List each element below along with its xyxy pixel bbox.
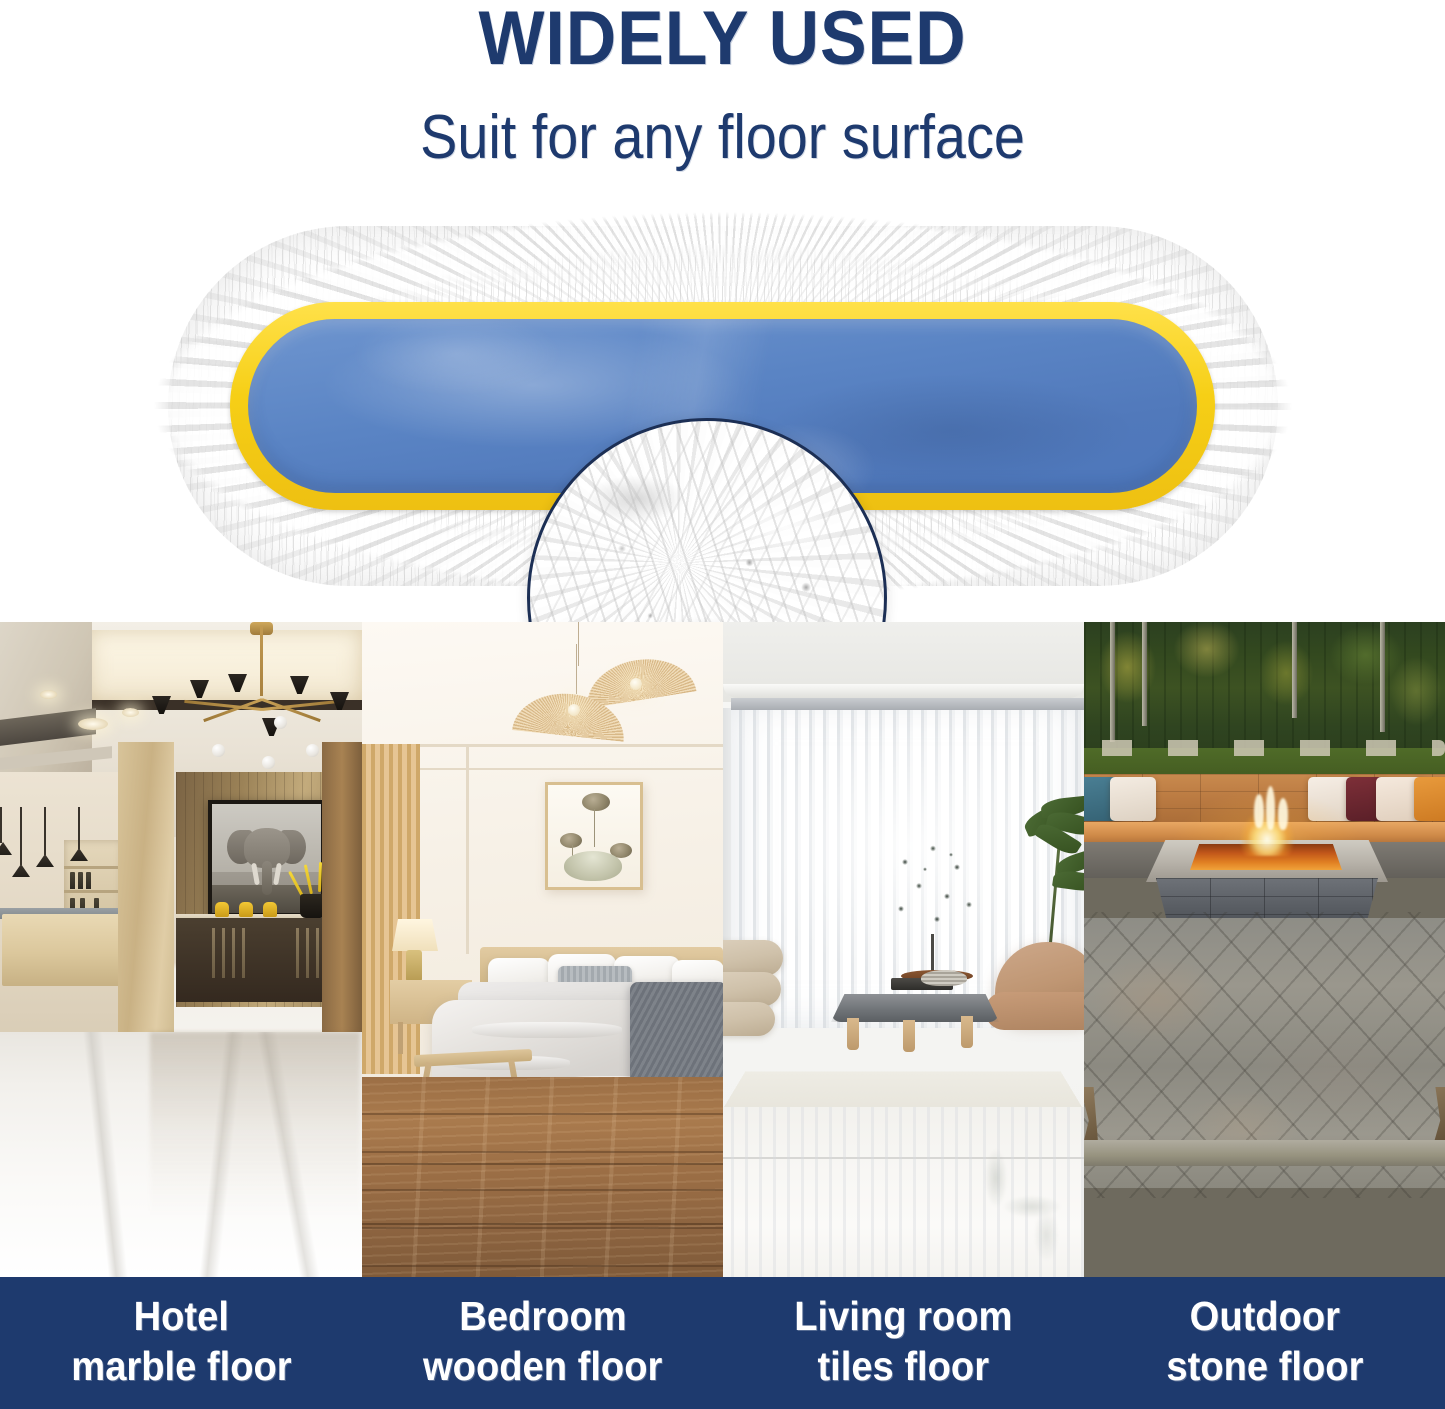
bedroom-art-stem bbox=[594, 809, 595, 847]
scene-panel-hotel bbox=[0, 622, 362, 1277]
magnifier-closeup-circle bbox=[527, 418, 887, 622]
hotel-shelf-line bbox=[64, 866, 122, 869]
caption-bedroom: Bedroom wooden floor bbox=[362, 1277, 723, 1409]
outdoor-cobblestone-border bbox=[1084, 1135, 1445, 1277]
caption-outdoor-line2: stone floor bbox=[1166, 1341, 1363, 1391]
bedroom-pendant-bulb bbox=[568, 704, 580, 716]
hotel-bottle bbox=[78, 872, 83, 889]
bedroom-pendant-cord bbox=[578, 622, 579, 666]
bedroom-table-lamp-base bbox=[406, 950, 422, 982]
hotel-downlight bbox=[78, 718, 108, 730]
bedroom-pendant-cord bbox=[576, 644, 577, 694]
hotel-console-slat bbox=[242, 928, 245, 978]
hotel-shelf-line bbox=[64, 890, 122, 893]
bedroom-art-lotus-pod bbox=[582, 793, 610, 811]
outdoor-flame-tip bbox=[1254, 794, 1264, 828]
bedroom-plank-texture bbox=[362, 1077, 723, 1277]
caption-outdoor: Outdoor stone floor bbox=[1084, 1277, 1445, 1409]
living-room-sofa-cushion bbox=[723, 940, 783, 976]
bedroom-wall-moulding bbox=[466, 744, 469, 954]
hotel-downlight bbox=[40, 690, 57, 699]
bedroom-pendant-bulb bbox=[630, 678, 642, 690]
elephant-trunk-icon bbox=[262, 861, 272, 895]
caption-living-room-line2: tiles floor bbox=[818, 1341, 990, 1391]
caption-bedroom-line2: wooden floor bbox=[423, 1341, 662, 1391]
living-room-sofa-cushion bbox=[723, 972, 781, 1006]
bedroom-art-leaf bbox=[564, 851, 622, 881]
product-hero bbox=[0, 196, 1445, 622]
hotel-gold-figurine bbox=[239, 902, 253, 917]
scene-panel-outdoor bbox=[1084, 622, 1445, 1277]
caption-bar: Hotel marble floor Bedroom wooden floor … bbox=[0, 1277, 1445, 1409]
hotel-chandelier-bulb bbox=[306, 744, 319, 757]
hotel-gold-figurine bbox=[215, 902, 229, 917]
bedroom-art-lotus-pod bbox=[560, 833, 582, 848]
living-room-soffit bbox=[723, 684, 1084, 698]
caption-bedroom-line1: Bedroom bbox=[459, 1291, 626, 1341]
caption-hotel-line2: marble floor bbox=[71, 1341, 291, 1391]
living-room-blinds-rail bbox=[731, 698, 1084, 710]
living-room-plant-reflection bbox=[960, 1139, 1080, 1269]
bedroom-duvet-fold bbox=[472, 1022, 622, 1038]
hotel-console-slat bbox=[316, 928, 319, 978]
outdoor-cushion bbox=[1110, 777, 1156, 821]
hotel-bottle bbox=[70, 872, 75, 889]
page-subtitle: Suit for any floor surface bbox=[72, 103, 1373, 172]
hotel-gold-figurines bbox=[215, 900, 281, 917]
hotel-pendant-cord bbox=[0, 807, 2, 843]
bedroom-table-lamp-shade bbox=[392, 919, 438, 951]
living-room-armchair-seat bbox=[985, 992, 1084, 1030]
hotel-bottle bbox=[86, 872, 91, 889]
outdoor-tree-trunk bbox=[1292, 622, 1297, 718]
outdoor-scene bbox=[1084, 622, 1445, 1277]
living-room-sofa-cushion bbox=[723, 1002, 775, 1036]
hotel-pendant-cord bbox=[20, 807, 22, 865]
hotel-chandelier-stem bbox=[260, 626, 263, 696]
outdoor-tree-trunk bbox=[1380, 622, 1385, 732]
hotel-right-wall bbox=[322, 742, 362, 1072]
outdoor-log-border bbox=[1084, 740, 1445, 756]
scene-panel-living-room bbox=[723, 622, 1084, 1277]
outdoor-tree-trunk bbox=[1142, 622, 1147, 726]
hotel-reception-counter bbox=[2, 914, 122, 986]
caption-living-room-line1: Living room bbox=[794, 1291, 1012, 1341]
magnifier-yarn-specks bbox=[530, 421, 884, 622]
living-room-bonsai-canopy bbox=[885, 836, 985, 940]
header-banner: WIDELY USED Suit for any floor surface bbox=[0, 0, 1445, 200]
hotel-console-slat bbox=[222, 928, 225, 978]
outdoor-cushion bbox=[1414, 777, 1445, 821]
hotel-floor-reflection bbox=[150, 1032, 360, 1217]
outdoor-flame-tip bbox=[1266, 786, 1275, 830]
page-title: WIDELY USED bbox=[58, 0, 1387, 81]
hotel-console-slat bbox=[306, 928, 309, 978]
living-room-scene bbox=[723, 622, 1084, 1277]
hotel-chandelier-bulb bbox=[274, 716, 287, 729]
outdoor-flame-tip bbox=[1278, 798, 1288, 830]
bedroom-botanical-artwork bbox=[545, 782, 643, 890]
living-room-table-leg bbox=[961, 1016, 973, 1048]
living-room-sofa bbox=[723, 940, 789, 1060]
bedroom-plank-seam bbox=[362, 1163, 723, 1165]
caption-hotel: Hotel marble floor bbox=[0, 1277, 362, 1409]
hotel-gold-figurine bbox=[263, 902, 277, 917]
hotel-scene bbox=[0, 622, 362, 1277]
caption-hotel-line1: Hotel bbox=[133, 1291, 228, 1341]
caption-outdoor-line1: Outdoor bbox=[1189, 1291, 1339, 1341]
bedroom-plank-seam bbox=[362, 1223, 723, 1225]
hotel-console-slat bbox=[232, 928, 235, 978]
scene-panel-bedroom bbox=[362, 622, 723, 1277]
bedroom-scene bbox=[362, 622, 723, 1277]
living-room-stacked-bowls bbox=[921, 970, 967, 986]
hotel-console-slat bbox=[212, 928, 215, 978]
living-room-table-leg bbox=[903, 1020, 915, 1052]
hotel-pendant-cord bbox=[78, 807, 80, 849]
hotel-console-slat bbox=[296, 928, 299, 978]
hotel-downlight bbox=[122, 708, 139, 717]
caption-living-room: Living room tiles floor bbox=[723, 1277, 1084, 1409]
bedroom-nightstand-leg bbox=[398, 1022, 403, 1054]
hotel-chandelier-bulb bbox=[212, 744, 225, 757]
living-room-table-leg bbox=[847, 1018, 859, 1050]
outdoor-tree-trunk bbox=[1110, 622, 1115, 742]
floor-scene-strip bbox=[0, 622, 1445, 1277]
hotel-ceiling-recess bbox=[88, 630, 362, 702]
hotel-pendant-cord bbox=[44, 807, 46, 855]
hotel-chandelier-bulb bbox=[262, 756, 275, 769]
